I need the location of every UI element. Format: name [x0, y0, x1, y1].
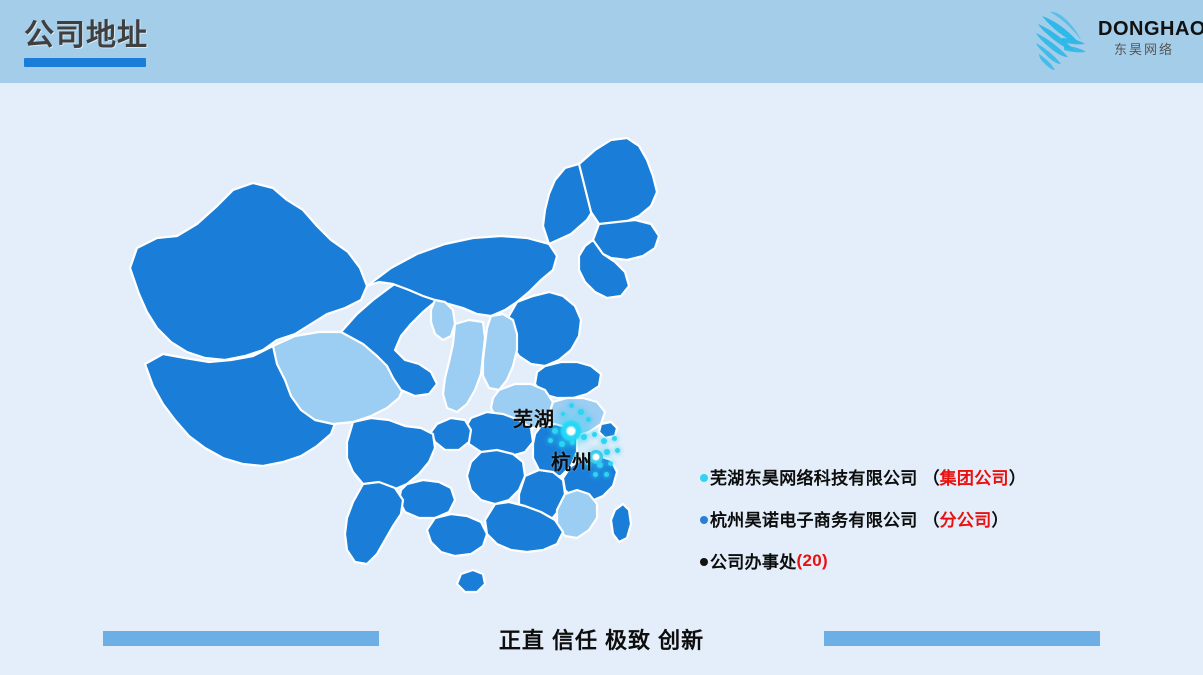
office-dot — [592, 432, 597, 437]
legend-bullet-icon — [700, 474, 708, 482]
china-map-svg — [105, 128, 685, 618]
province-heilongjiang — [579, 138, 657, 226]
office-dot — [578, 409, 584, 415]
donghao-feather-logo-icon — [1028, 8, 1096, 74]
province-shanxi — [483, 314, 517, 390]
province-chongqing — [431, 418, 471, 450]
office-dot — [569, 403, 574, 408]
page-title-text: 公司地址 — [24, 17, 148, 55]
legend-bullet-icon — [700, 516, 708, 524]
china-map — [105, 128, 685, 618]
footer-bar-right — [824, 631, 1100, 646]
province-hainan — [457, 570, 485, 592]
wuhu-headquarters-marker[interactable] — [560, 420, 582, 442]
logo-english-name: DONGHAO — [1098, 18, 1190, 40]
city-label-wuhu: 芜湖 — [513, 403, 555, 432]
page-header: 公司地址 DONGHAO 东昊网络 — [0, 0, 1203, 83]
legend-close-paren: ） — [992, 506, 1009, 531]
province-hunan — [467, 450, 525, 504]
legend-close-paren: ） — [1009, 464, 1026, 489]
office-dot — [593, 472, 598, 477]
province-guangxi — [427, 514, 487, 556]
legend-company-tag: 集团公司 — [940, 464, 1009, 489]
office-dot — [586, 417, 591, 422]
legend-company-name: 芜湖东昊网络科技有限公司 — [710, 464, 918, 489]
logo-chinese-name: 东昊网络 — [1098, 41, 1190, 59]
legend-item-group-company[interactable]: 芜湖东昊网络科技有限公司 （ 集团公司 ） — [700, 462, 1120, 491]
legend-company-name: 杭州昊诺电子商务有限公司 — [710, 506, 918, 531]
page-title: 公司地址 — [24, 17, 148, 67]
legend-open-paren: （ — [923, 506, 940, 531]
city-label-hangzhou: 杭州 — [551, 446, 593, 475]
title-underline-bar — [24, 58, 146, 67]
legend-item-offices[interactable]: 公司办事处 (20) — [700, 546, 1120, 575]
province-guizhou — [399, 480, 455, 518]
province-ningxia — [431, 300, 455, 340]
office-dot — [561, 412, 565, 416]
office-dot — [615, 448, 620, 453]
legend-company-name: 公司办事处 — [710, 548, 797, 573]
office-dot — [604, 449, 610, 455]
logo-text: DONGHAO 东昊网络 — [1098, 18, 1190, 59]
office-dot — [601, 438, 607, 444]
province-hebei — [507, 292, 581, 366]
office-dot — [581, 434, 587, 440]
map-legend: 芜湖东昊网络科技有限公司 （ 集团公司 ） 杭州昊诺电子商务有限公司 （ 分公司… — [700, 462, 1120, 575]
office-dot — [548, 438, 553, 443]
company-logo: DONGHAO 东昊网络 — [1028, 6, 1193, 78]
legend-bullet-icon — [700, 558, 708, 566]
office-dot — [612, 436, 617, 441]
province-yunnan — [345, 482, 403, 564]
office-dot — [604, 472, 609, 477]
legend-open-paren: （ — [923, 464, 940, 489]
legend-company-tag: (20) — [797, 551, 828, 571]
office-dot — [608, 461, 613, 466]
legend-item-branch-company[interactable]: 杭州昊诺电子商务有限公司 （ 分公司 ） — [700, 504, 1120, 533]
province-taiwan — [611, 504, 631, 542]
legend-company-tag: 分公司 — [940, 506, 992, 531]
